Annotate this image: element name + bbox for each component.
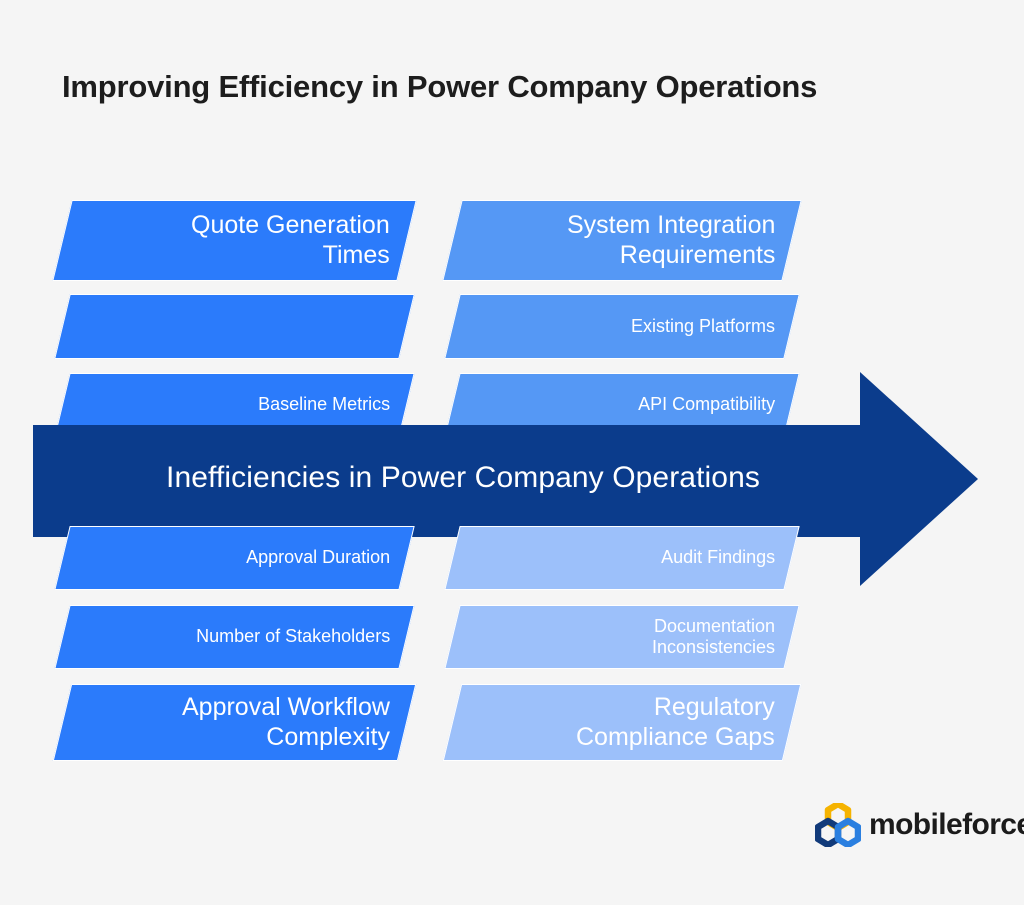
branch-item-bottom-left-2[interactable]: Number of Stakeholders [54,605,414,669]
branch-item-label: Approval Duration [246,547,406,568]
branch-item-label: Approval Workflow Complexity [182,693,406,752]
branch-item-label: Documentation Inconsistencies [652,616,791,658]
branch-item-label: Number of Stakeholders [196,626,406,647]
branch-item-bottom-left-3[interactable]: Approval Workflow Complexity [53,684,416,761]
mobileforce-hexagon-icon [815,803,861,847]
branch-item-bottom-right-1[interactable]: Audit Findings [444,526,799,590]
branch-item-top-right-1[interactable]: System Integration Requirements [442,200,801,281]
spine-label: Inefficiencies in Power Company Operatio… [33,458,893,498]
branch-item-label: Regulatory Compliance Gaps [576,693,791,752]
branch-item-label: System Integration Requirements [567,211,791,270]
branch-item-bottom-right-3[interactable]: Regulatory Compliance Gaps [443,684,801,761]
brand-logo: mobileforce [815,801,997,849]
branch-item-top-left-2[interactable] [54,294,415,359]
branch-item-label: Quote Generation Times [191,211,406,270]
branch-item-top-right-2[interactable]: Existing Platforms [444,294,800,359]
brand-wordmark: mobileforce [869,810,1024,840]
branch-item-bottom-right-2[interactable]: Documentation Inconsistencies [444,605,799,669]
branch-item-top-left-1[interactable]: Quote Generation Times [52,200,416,281]
branch-item-label: Audit Findings [661,547,791,568]
diagram-canvas: Improving Efficiency in Power Company Op… [0,0,1024,905]
page-title: Improving Efficiency in Power Company Op… [62,67,962,107]
branch-item-label: Existing Platforms [631,316,791,337]
branch-item-bottom-left-1[interactable]: Approval Duration [54,526,414,590]
